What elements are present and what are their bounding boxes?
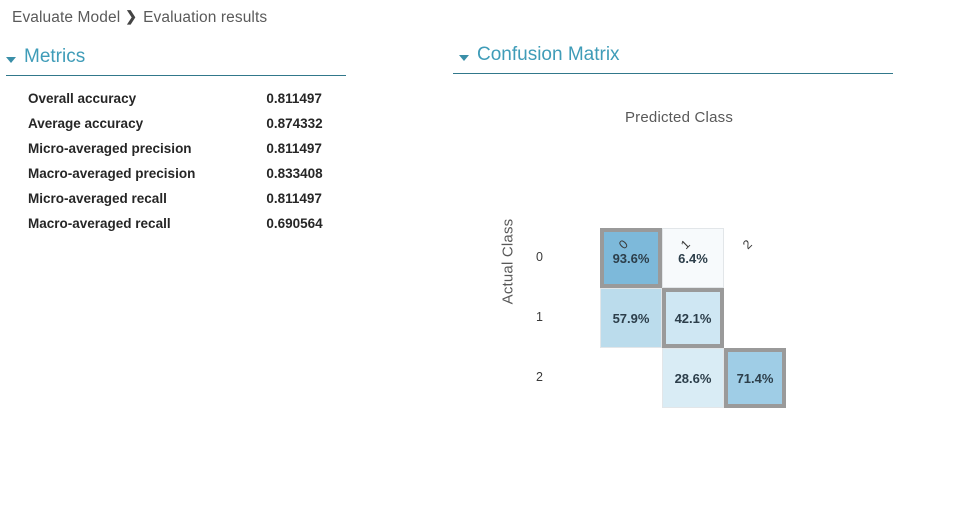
confusion-cell-2-2[interactable]: 71.4%	[724, 348, 786, 408]
confusion-cell-0-1[interactable]: 6.4%	[662, 228, 724, 288]
y-axis-tick-1: 1	[529, 310, 543, 324]
confusion-cell-label: 71.4%	[737, 371, 774, 386]
breadcrumb: Evaluate Model❯Evaluation results	[12, 8, 267, 27]
metrics-row: Micro-averaged precision0.811497	[28, 141, 323, 166]
confusion-cell-label: 42.1%	[675, 311, 712, 326]
x-axis-title: Predicted Class	[459, 109, 899, 126]
metric-value: 0.874332	[195, 116, 322, 141]
confusion-matrix-chart: Predicted Class Actual Class 93.6%6.4%57…	[459, 88, 899, 488]
confusion-cell-2-1[interactable]: 28.6%	[662, 348, 724, 408]
confusion-matrix-header-divider	[453, 73, 893, 74]
confusion-matrix-section-title: Confusion Matrix	[477, 44, 620, 66]
metric-value: 0.811497	[195, 191, 322, 216]
metrics-table: Overall accuracy0.811497Average accuracy…	[28, 91, 323, 241]
metric-value: 0.690564	[195, 216, 322, 241]
metric-label: Macro-averaged precision	[28, 166, 195, 191]
metric-value: 0.833408	[195, 166, 322, 191]
y-axis-title: Actual Class	[500, 202, 517, 322]
confusion-cell-0-0[interactable]: 93.6%	[600, 228, 662, 288]
metric-label: Overall accuracy	[28, 91, 195, 116]
confusion-cell-label: 57.9%	[613, 311, 650, 326]
x-axis-tick-2: 2	[740, 237, 755, 252]
metrics-section-title: Metrics	[24, 46, 85, 68]
metrics-header-divider	[6, 75, 346, 76]
triangle-collapse-icon[interactable]	[459, 55, 469, 61]
metric-label: Micro-averaged precision	[28, 141, 195, 166]
metrics-row: Overall accuracy0.811497	[28, 91, 323, 116]
breadcrumb-parent[interactable]: Evaluate Model	[12, 9, 120, 26]
confusion-cell-1-0[interactable]: 57.9%	[600, 288, 662, 348]
confusion-cell-label: 93.6%	[613, 251, 650, 266]
metrics-table-body: Overall accuracy0.811497Average accuracy…	[28, 91, 323, 241]
chevron-right-icon: ❯	[125, 8, 137, 25]
metrics-row: Macro-averaged precision0.833408	[28, 166, 323, 191]
y-axis-tick-0: 0	[529, 250, 543, 264]
triangle-collapse-icon[interactable]	[6, 57, 16, 63]
metric-value: 0.811497	[195, 91, 322, 116]
metrics-row: Macro-averaged recall0.690564	[28, 216, 323, 241]
confusion-cell-label: 6.4%	[678, 251, 708, 266]
breadcrumb-current: Evaluation results	[143, 9, 267, 26]
metrics-row: Micro-averaged recall0.811497	[28, 191, 323, 216]
y-axis-tick-2: 2	[529, 370, 543, 384]
metric-label: Macro-averaged recall	[28, 216, 195, 241]
metric-value: 0.811497	[195, 141, 322, 166]
evaluation-results-page: Evaluate Model❯Evaluation results Metric…	[0, 0, 956, 506]
confusion-cell-1-1[interactable]: 42.1%	[662, 288, 724, 348]
metrics-row: Average accuracy0.874332	[28, 116, 323, 141]
confusion-cell-label: 28.6%	[675, 371, 712, 386]
metric-label: Micro-averaged recall	[28, 191, 195, 216]
metric-label: Average accuracy	[28, 116, 195, 141]
